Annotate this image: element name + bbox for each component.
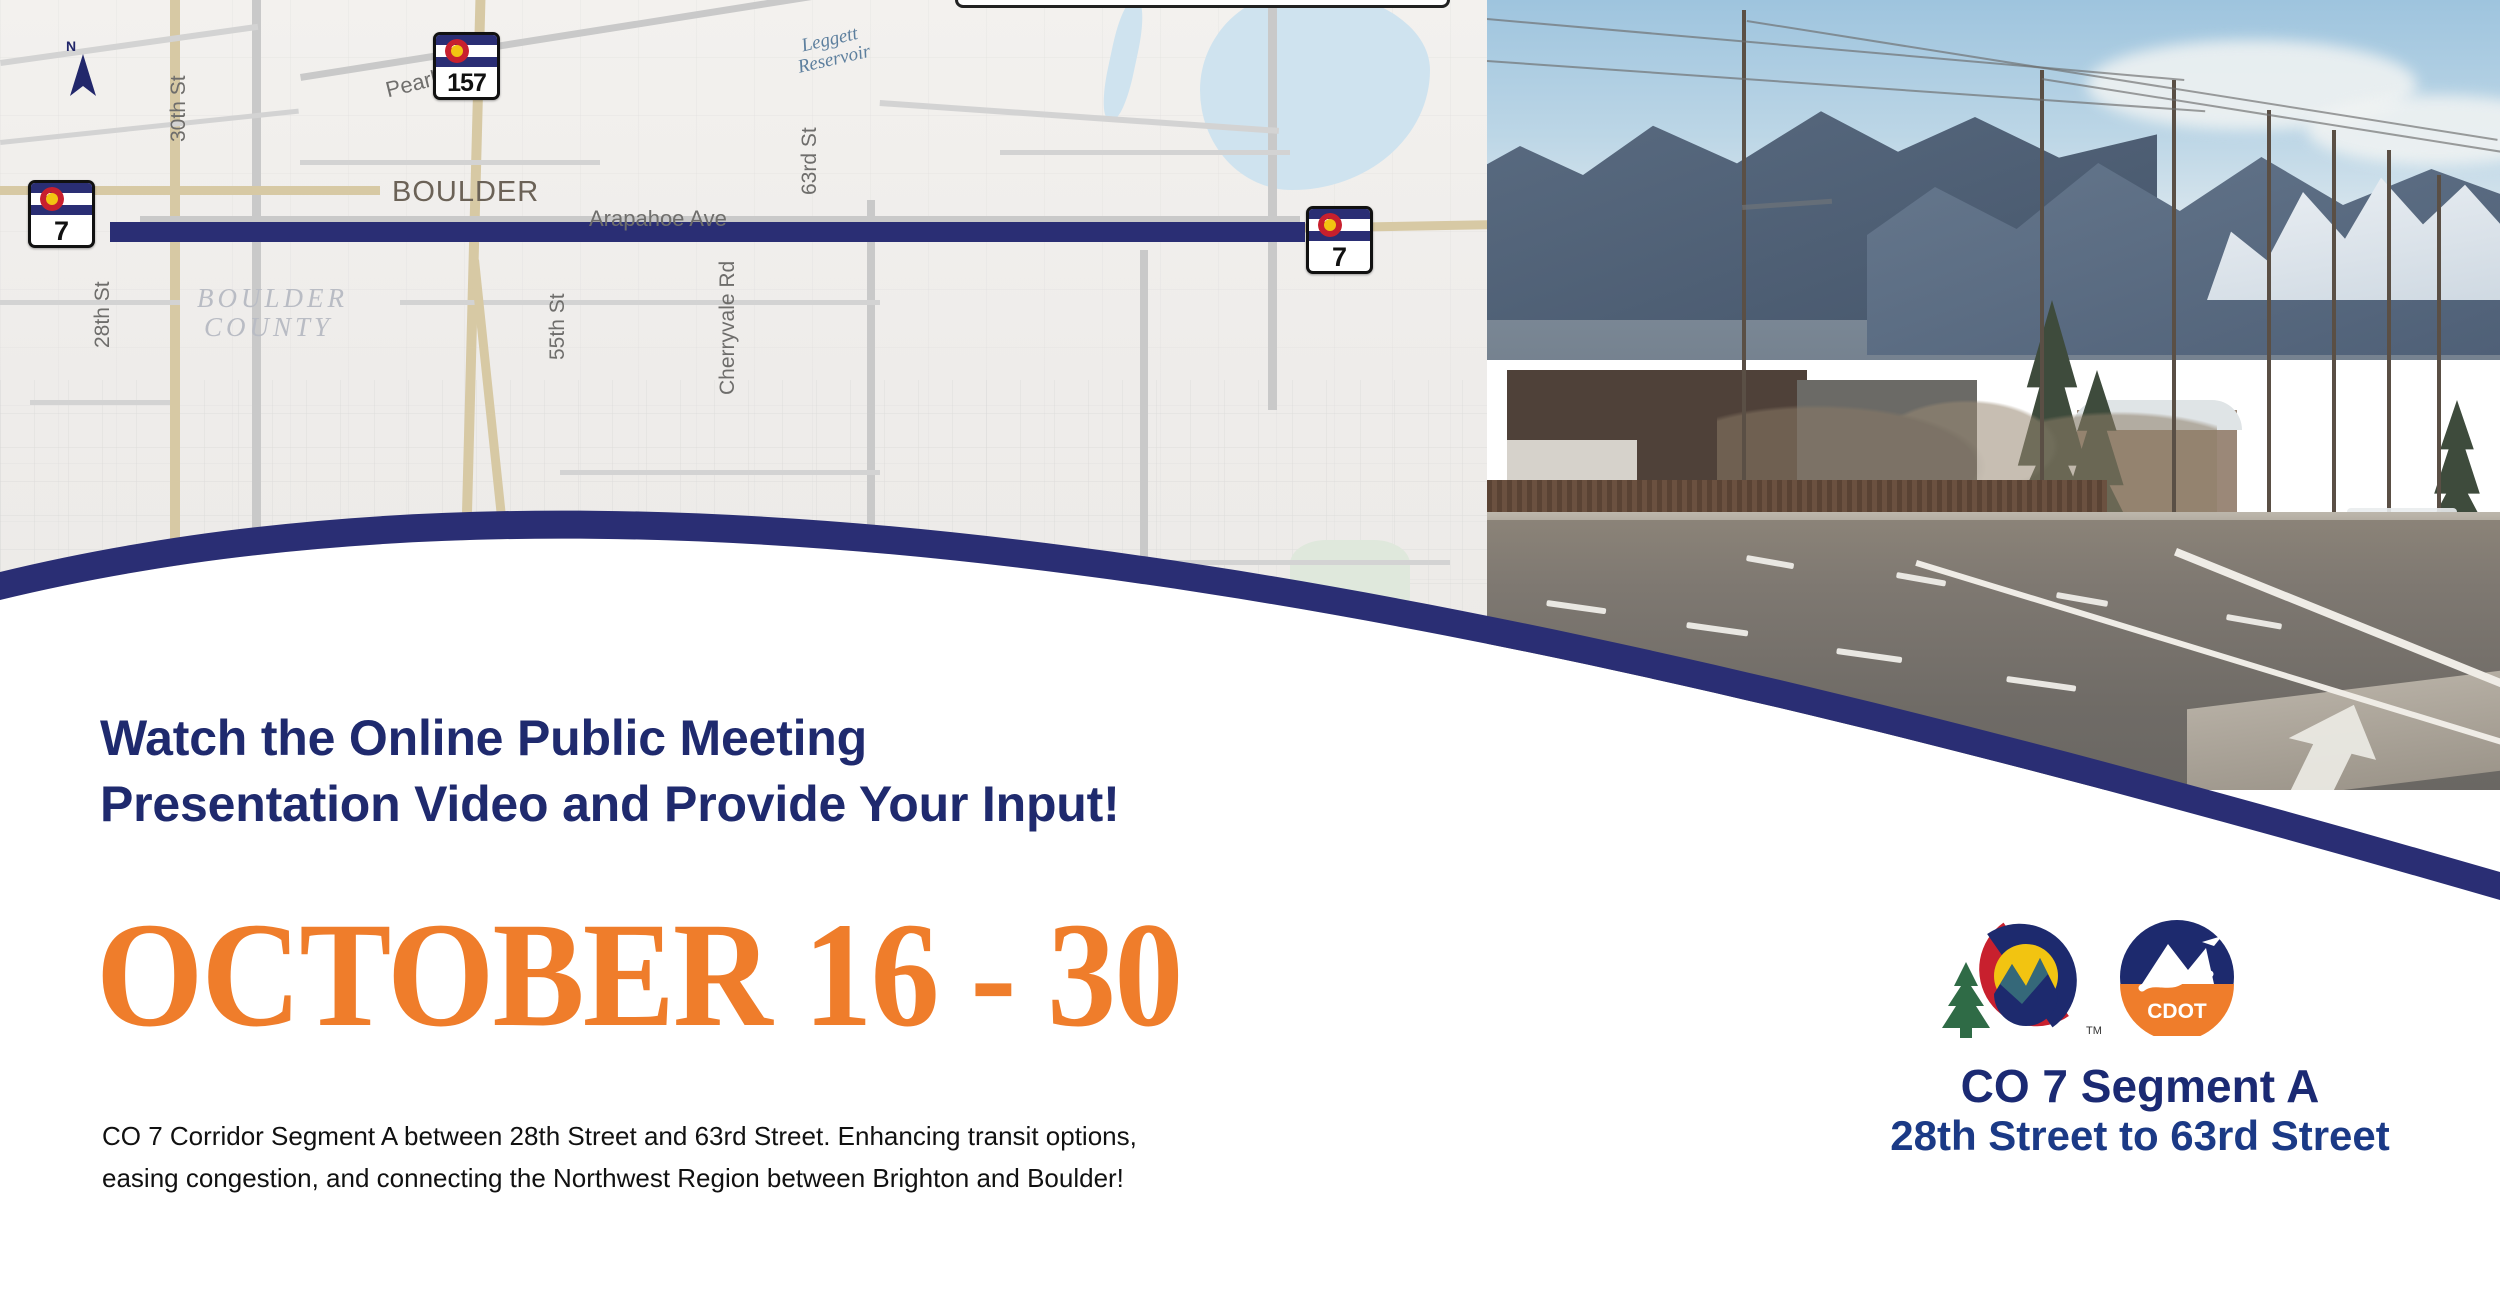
road-minor-3 [300,160,600,165]
road-63rd-st [1268,0,1277,410]
map-label-arapahoe-ave: Arapahoe Ave [589,206,727,232]
road-30th-st [252,0,261,720]
route-shield-number: 157 [436,67,497,100]
photo-bare-trees-2 [2207,360,2497,530]
meeting-dates: OCTOBER 16 - 30 [96,900,1181,1050]
cdot-logo: CDOT [2118,918,2236,1036]
colorado-trademark: TM [2086,1025,2102,1037]
route-shield-number: 7 [31,215,92,248]
colorado-state-logo: TM [1930,910,2130,1040]
open-space-area [1290,540,1410,620]
colorado-flag-band [31,183,92,215]
headline-line-2: Presentation Video and Provide Your Inpu… [100,771,1600,837]
road-minor-11 [30,400,170,405]
corridor-map: BOULDER BOULDER COUNTY Leggett Reservoir… [0,0,1487,720]
open-space-area-2 [770,560,860,620]
project-subtitle: 28th Street to 63rd Street [1760,1112,2500,1161]
map-label-55th-st: 55th St [546,293,570,360]
project-blurb: CO 7 Corridor Segment A between 28th Str… [102,1115,1562,1199]
poster-canvas: BOULDER BOULDER COUNTY Leggett Reservoir… [0,0,2500,1313]
road-minor-8 [1150,560,1450,565]
project-title: CO 7 Segment A [1760,1060,2500,1113]
colorado-c-dot [1324,219,1336,231]
road-minor-7 [560,470,880,475]
route-shield-co157: 157 [433,32,500,100]
map-label-28th-st: 28th St [91,281,115,348]
colorado-flag-band [436,35,497,67]
colorado-flag-band [1309,209,1370,241]
route-shield-co7-west: 7 [28,180,95,248]
road-minor-9 [610,620,890,625]
map-label-30th-st: 30th St [167,75,191,142]
road-minor-5 [1000,150,1290,155]
map-inset-frame [955,0,1450,8]
north-arrow-icon: N [60,38,106,100]
cdot-wordmark: CDOT [2147,1000,2207,1023]
route-shield-co7-east: 7 [1306,206,1373,274]
road-minor-10 [0,300,180,305]
map-label-cherryvale-rd: Cherryvale Rd [716,261,740,395]
content-area: Watch the Online Public Meeting Presenta… [0,660,2500,1313]
road-55th-st [867,200,875,720]
blurb-line-1: CO 7 Corridor Segment A between 28th Str… [102,1115,1562,1157]
north-arrow-label: N [66,38,76,54]
map-label-boulder-county-1: BOULDER [197,283,348,314]
logo-group: TM CDOT [1930,910,2350,1040]
map-label-boulder: BOULDER [392,176,539,209]
map-label-63rd-st: 63rd St [798,127,822,195]
road-cherryvale-rd [1140,250,1148,720]
route-shield-number: 7 [1309,241,1370,274]
colorado-c-dot [451,45,463,57]
road-minor-6 [400,300,880,305]
colorado-c-dot [46,193,58,205]
blurb-line-2: easing congestion, and connecting the No… [102,1157,1562,1199]
headline-block: Watch the Online Public Meeting Presenta… [100,705,1600,837]
headline-line-1: Watch the Online Public Meeting [100,705,1600,771]
map-label-boulder-county-2: COUNTY [204,312,333,343]
